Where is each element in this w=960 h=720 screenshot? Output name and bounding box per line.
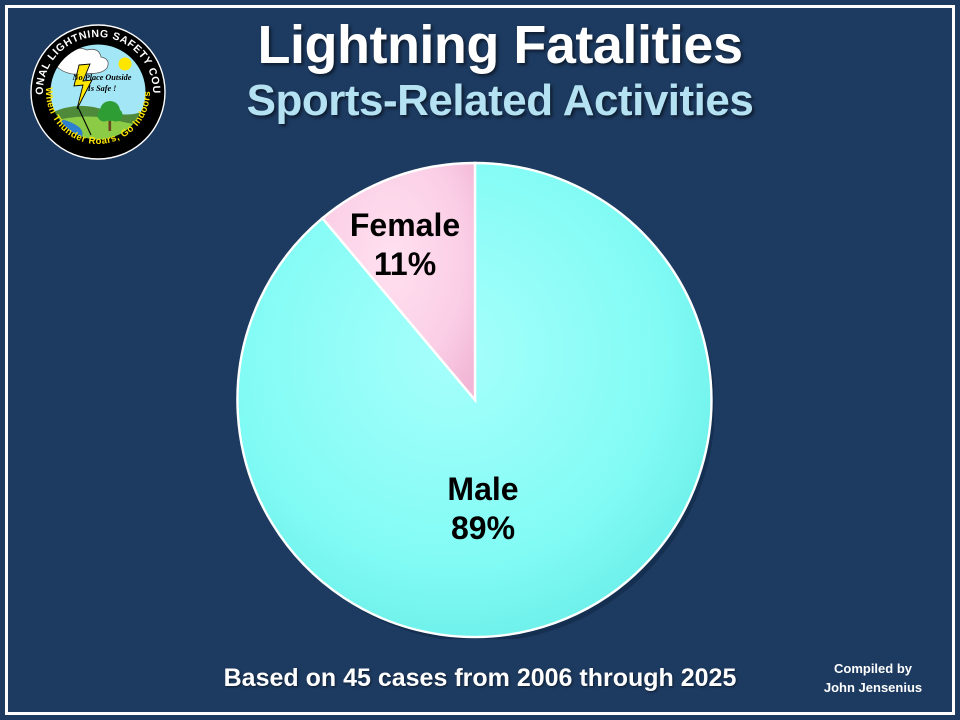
pie-label-male: Male 89%: [400, 470, 566, 548]
credit-line-2: John Jensenius: [808, 679, 938, 698]
pie-label-male-value: 89%: [400, 509, 566, 548]
pie-label-female-name: Female: [330, 206, 480, 245]
logo-sun: [119, 58, 132, 71]
logo-inner-text-line2: Is Safe !: [87, 84, 117, 93]
page-subtitle: Sports-Related Activities: [150, 76, 850, 125]
credit-block: Compiled by John Jensenius: [808, 660, 938, 698]
pie-label-male-name: Male: [400, 470, 566, 509]
logo-svg: No Place Outside Is Safe ! NATIONAL LIGH…: [29, 23, 167, 161]
slide-canvas: No Place Outside Is Safe ! NATIONAL LIGH…: [0, 0, 960, 720]
credit-line-1: Compiled by: [808, 660, 938, 679]
national-lightning-safety-council-logo: No Place Outside Is Safe ! NATIONAL LIGH…: [29, 23, 167, 161]
pie-label-female-value: 11%: [330, 245, 480, 284]
logo-inner-text-line1: No Place Outside: [72, 73, 132, 82]
logo-tree-canopy-right: [110, 109, 123, 122]
page-title: Lightning Fatalities: [150, 18, 850, 72]
pie-label-female: Female 11%: [330, 206, 480, 284]
logo-tree-canopy-left: [98, 109, 111, 122]
title-block: Lightning Fatalities Sports-Related Acti…: [150, 18, 850, 125]
